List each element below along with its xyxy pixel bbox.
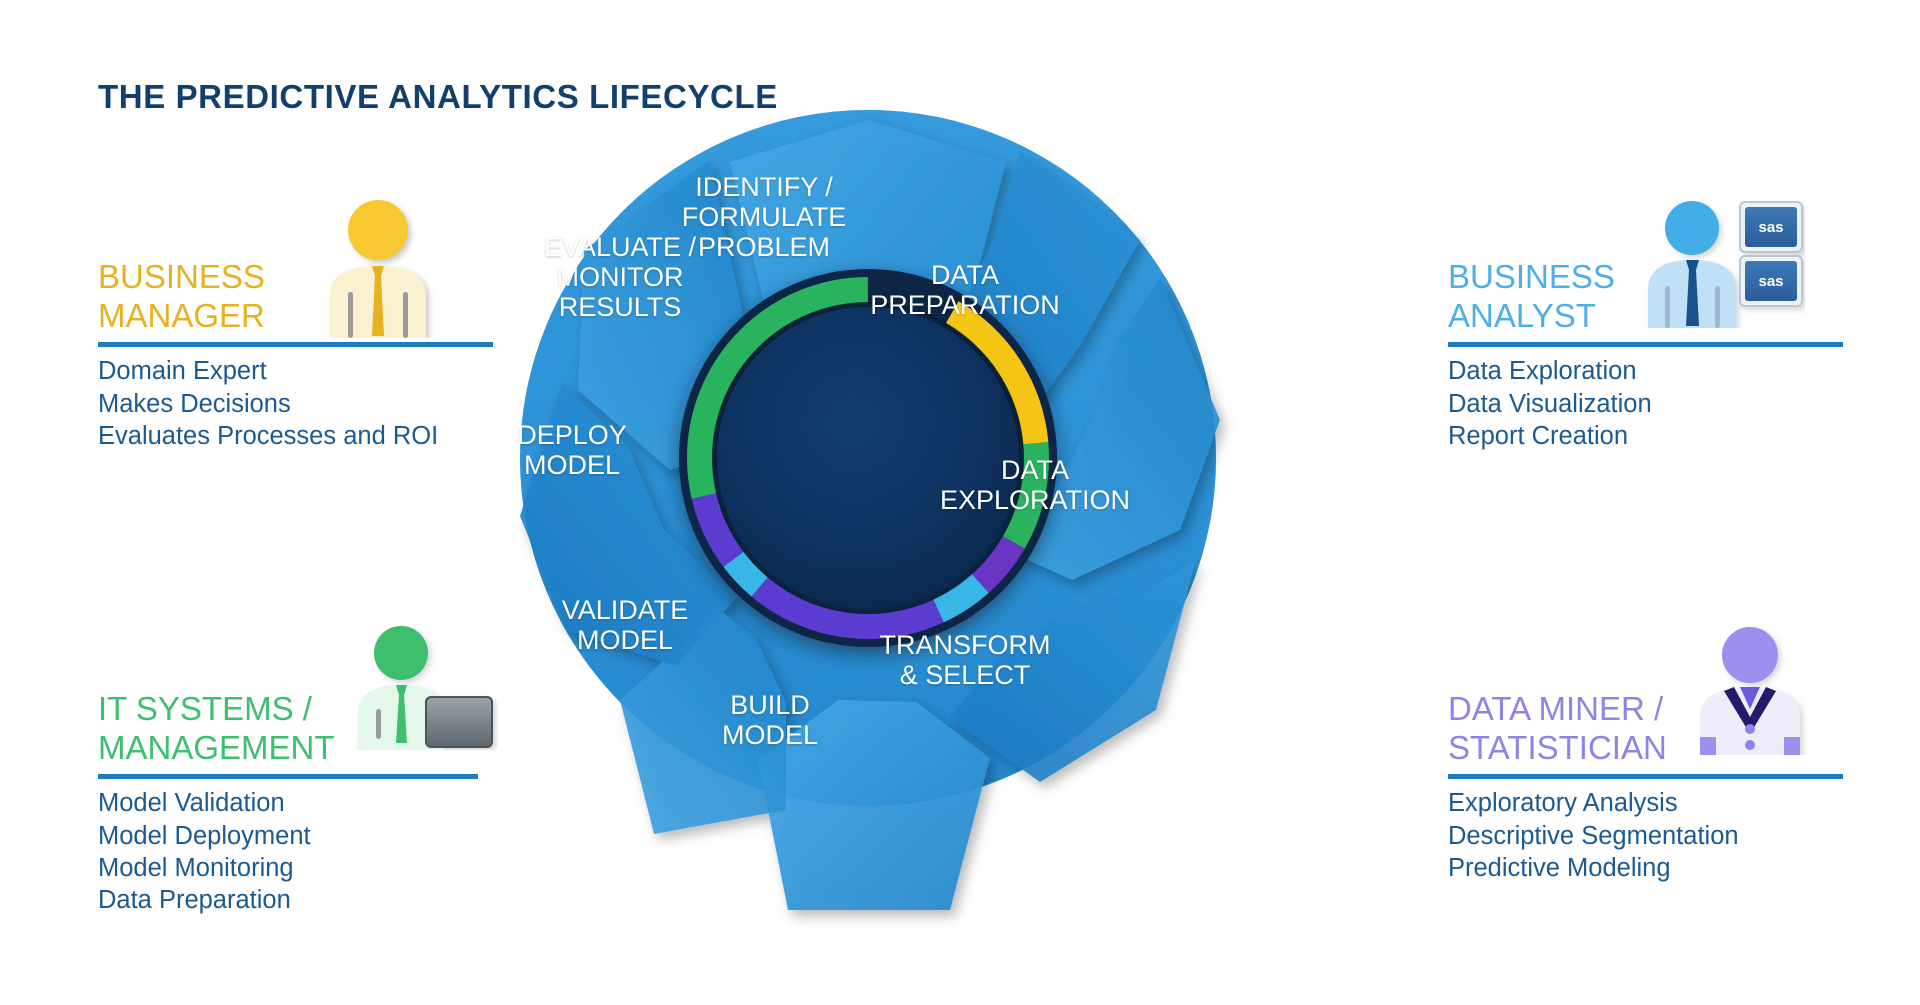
list-item: Model Deployment [98, 820, 478, 852]
list-item: Data Preparation [98, 885, 478, 917]
avatar-head [1665, 201, 1719, 255]
avatar-head [348, 200, 408, 260]
role-list-business-manager: Domain Expert Makes Decisions Evaluates … [98, 356, 493, 453]
list-item: Predictive Modeling [1448, 853, 1843, 885]
sas-monitor-top: sas [1740, 202, 1802, 252]
avatar-head [374, 626, 428, 680]
list-item: Makes Decisions [98, 388, 493, 420]
role-divider-data-miner [1448, 774, 1843, 779]
lifecycle-wheel: IDENTIFY / FORMULATE PROBLEM DATA PREPAR… [520, 110, 1300, 1000]
role-panel-business-analyst: BUSINESS ANALYST Data Exploration Data V… [1448, 258, 1843, 453]
role-list-business-analyst: Data Exploration Data Visualization Repo… [1448, 356, 1843, 453]
role-heading-data-miner: DATA MINER / STATISTICIAN [1448, 690, 1843, 768]
list-item: Model Monitoring [98, 853, 478, 885]
list-item: Domain Expert [98, 356, 493, 388]
list-item: Model Validation [98, 788, 478, 820]
role-divider-it-systems [98, 774, 478, 779]
role-panel-data-miner: DATA MINER / STATISTICIAN Exploratory An… [1448, 690, 1843, 885]
list-item: Data Exploration [1448, 356, 1843, 388]
role-list-it-systems: Model Validation Model Deployment Model … [98, 788, 478, 917]
role-panel-it-systems: IT SYSTEMS / MANAGEMENT Model Validation… [98, 690, 478, 917]
role-panel-business-manager: BUSINESS MANAGER Domain Expert Makes Dec… [98, 258, 493, 453]
role-divider-business-analyst [1448, 342, 1843, 347]
list-item: Report Creation [1448, 421, 1843, 453]
list-item: Evaluates Processes and ROI [98, 421, 493, 453]
role-list-data-miner: Exploratory Analysis Descriptive Segment… [1448, 788, 1843, 885]
wheel-hub [712, 302, 1024, 614]
role-heading-business-analyst: BUSINESS ANALYST [1448, 258, 1843, 336]
list-item: Descriptive Segmentation [1448, 820, 1843, 852]
list-item: Data Visualization [1448, 388, 1843, 420]
wheel-svg [520, 110, 1300, 1000]
role-heading-business-manager: BUSINESS MANAGER [98, 258, 493, 336]
sas-logo-text: sas [1758, 219, 1783, 236]
role-divider-business-manager [98, 342, 493, 347]
role-heading-it-systems: IT SYSTEMS / MANAGEMENT [98, 690, 478, 768]
avatar-head [1722, 627, 1778, 683]
list-item: Exploratory Analysis [1448, 788, 1843, 820]
